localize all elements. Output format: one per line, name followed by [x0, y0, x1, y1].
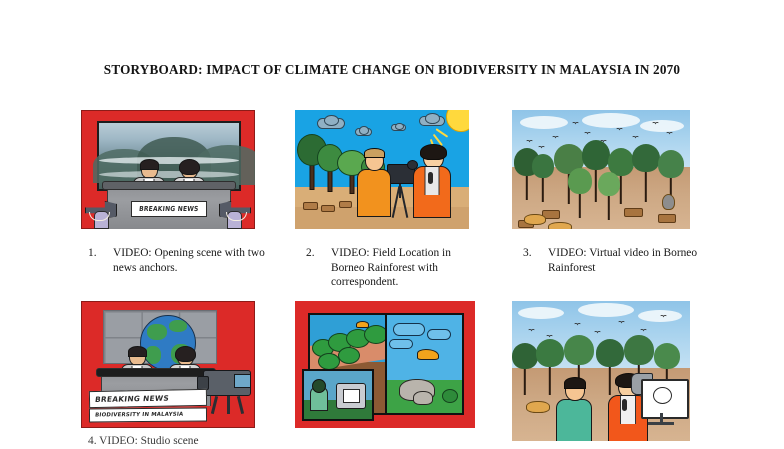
cloud	[391, 124, 406, 131]
monitor-screen	[343, 389, 360, 403]
bird	[632, 136, 639, 140]
cloud	[578, 303, 634, 317]
cut-log	[624, 208, 643, 217]
caption-text: VIDEO: Opening scene with two news ancho…	[113, 246, 273, 275]
microphone-icon	[428, 172, 433, 184]
cloud	[393, 323, 425, 336]
storyboard-panel-6[interactable]	[512, 301, 690, 441]
tiger	[548, 222, 572, 229]
bird	[666, 132, 673, 136]
caption-number: 1.	[88, 246, 97, 261]
bird	[572, 122, 579, 126]
tiger	[526, 401, 550, 413]
cut-stump	[303, 202, 318, 210]
cloud	[427, 329, 451, 340]
bird	[526, 140, 533, 144]
storyboard-panel-2[interactable]	[295, 110, 469, 229]
tree	[598, 172, 620, 220]
shrub	[442, 389, 458, 403]
bird	[528, 329, 535, 333]
green-shirt	[556, 399, 592, 441]
camera-monitor	[234, 374, 251, 388]
caption-number: 2.	[306, 246, 315, 261]
panel-3-caption: 3. VIDEO: Virtual video in Borneo Rainfo…	[523, 246, 708, 275]
bird	[574, 323, 581, 327]
camera-operator-left	[85, 199, 119, 229]
storyboard-panel-3[interactable]	[512, 110, 690, 229]
split-right-rhino	[387, 315, 462, 413]
tripod-leg	[227, 396, 230, 414]
rhino-calf	[413, 391, 433, 405]
cloud	[389, 339, 413, 349]
cloud	[518, 307, 564, 319]
cloud	[582, 113, 640, 128]
caption-text: VIDEO: Virtual video in Borneo Rainfores…	[548, 246, 708, 275]
tree	[632, 144, 660, 202]
hair	[140, 159, 159, 170]
bird	[417, 349, 439, 360]
screen-face-graphic	[653, 387, 672, 404]
tree	[532, 154, 554, 202]
inset-person-head	[312, 379, 326, 393]
studio-camera	[203, 370, 253, 414]
cloud	[355, 128, 372, 136]
tripod-leg	[211, 396, 218, 414]
lower-third-banner: BREAKING NEWS BIODIVERSITY IN MALAYSIA	[89, 390, 207, 422]
bird	[616, 128, 623, 132]
subheadline-text: BIODIVERSITY IN MALAYSIA	[95, 412, 184, 419]
bird	[594, 331, 601, 335]
desk-top-edge	[102, 181, 236, 190]
camera-operator-right	[217, 199, 251, 229]
orange-shirt	[357, 169, 391, 217]
inset-reporter-frame	[302, 369, 374, 421]
head	[565, 379, 585, 401]
tree-canopy	[338, 347, 360, 364]
caption-text: VIDEO: Field Location in Borneo Rainfore…	[331, 246, 486, 290]
cameraman	[357, 150, 391, 217]
breaking-news-sign: BREAKING NEWS	[131, 201, 207, 217]
breaking-news-text: BREAKING NEWS	[139, 205, 199, 213]
bird	[356, 321, 369, 328]
head	[365, 150, 384, 171]
presenter-green	[556, 379, 592, 441]
hair	[179, 159, 200, 175]
storyboard-page: STORYBOARD: IMPACT OF CLIMATE CHANGE ON …	[0, 0, 784, 441]
bird	[618, 321, 625, 325]
page-title: STORYBOARD: IMPACT OF CLIMATE CHANGE ON …	[0, 62, 784, 78]
mist-band	[99, 171, 239, 178]
panel-2-caption: 2. VIDEO: Field Location in Borneo Rainf…	[306, 246, 486, 290]
cut-stump	[339, 201, 352, 208]
hair	[175, 346, 196, 362]
subheadline-bar: BIODIVERSITY IN MALAYSIA	[89, 407, 207, 422]
bird	[640, 329, 647, 333]
storyboard-panel-4[interactable]: BREAKING NEWS BIODIVERSITY IN MALAYSIA	[81, 301, 255, 428]
storyboard-panel-5[interactable]	[295, 301, 475, 428]
camera-base	[648, 422, 674, 425]
camera-lens	[197, 376, 209, 390]
tiger	[524, 214, 546, 225]
cloud	[419, 116, 445, 126]
bird	[660, 315, 667, 319]
studio-camera-monitor	[631, 371, 689, 425]
mist-band	[99, 157, 239, 164]
hair	[128, 346, 147, 357]
storyboard-panel-1[interactable]: BREAKING NEWS	[81, 110, 255, 229]
tree	[512, 343, 538, 395]
elephant	[662, 194, 675, 210]
microphone-icon	[622, 399, 627, 411]
panel-1-caption: 1. VIDEO: Opening scene with two news an…	[88, 246, 273, 275]
cloud	[317, 118, 345, 129]
cut-log	[658, 214, 676, 223]
cut-stump	[321, 205, 335, 212]
tripod-leg	[237, 396, 244, 414]
bird	[652, 122, 659, 126]
breaking-news-bar: BREAKING NEWS	[89, 389, 207, 408]
tree	[568, 168, 592, 218]
news-desk: BREAKING NEWS	[107, 184, 231, 229]
bird	[552, 136, 559, 140]
caption-number: 3.	[523, 246, 532, 261]
cloud	[520, 116, 568, 129]
cloud	[640, 120, 684, 132]
breaking-news-text: BREAKING NEWS	[94, 394, 169, 404]
bird	[584, 132, 591, 136]
tree-canopy	[318, 353, 340, 370]
panel-4-caption-cutoff: 4. VIDEO: Studio scene	[88, 434, 288, 449]
monitor-screen	[641, 379, 689, 419]
